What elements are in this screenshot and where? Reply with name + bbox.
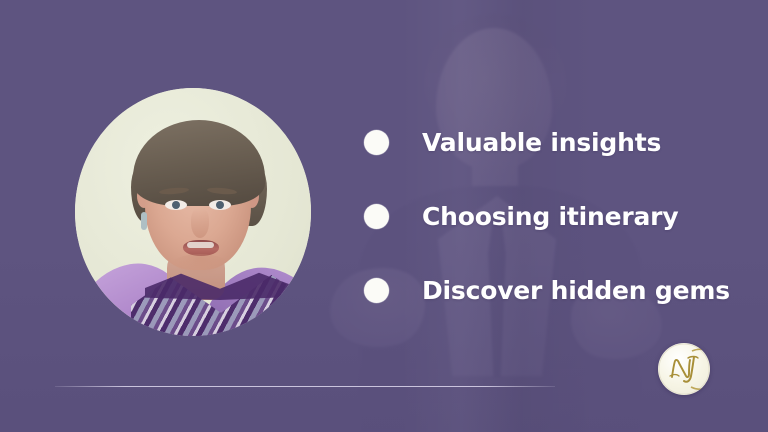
portrait-chin [171, 254, 229, 276]
bullet-item-3: Discover hidden gems [364, 266, 754, 314]
brand-logo-badge [658, 343, 710, 395]
bullet-label-3: Discover hidden gems [422, 276, 730, 305]
bullet-label-1: Valuable insights [422, 128, 661, 157]
portrait-nose [191, 208, 209, 238]
circle-bullet-icon [364, 204, 389, 229]
bullet-list: Valuable insights Choosing itinerary Dis… [364, 118, 754, 340]
bullet-label-2: Choosing itinerary [422, 202, 678, 231]
bullet-item-2: Choosing itinerary [364, 192, 754, 240]
portrait-eye-left [165, 200, 187, 210]
nj-monogram-icon [658, 343, 710, 395]
portrait-eye-right [209, 200, 231, 210]
portrait-earring [141, 212, 147, 230]
speaker-portrait [75, 88, 311, 336]
horizontal-divider [55, 386, 555, 387]
portrait-teeth [187, 242, 214, 248]
bullet-item-1: Valuable insights [364, 118, 754, 166]
circle-bullet-icon [364, 130, 389, 155]
slide-canvas: Valuable insights Choosing itinerary Dis… [0, 0, 768, 432]
circle-bullet-icon [364, 278, 389, 303]
